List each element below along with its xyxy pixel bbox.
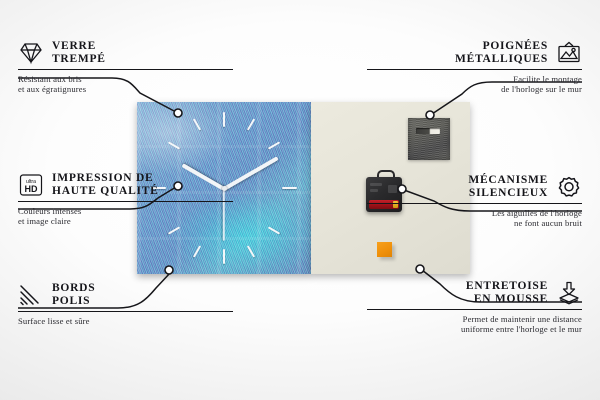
- clock-tick: [282, 187, 297, 189]
- clock-tick: [247, 245, 255, 257]
- callout-subtitle: Les aiguilles de l'horlogene font aucun …: [367, 208, 582, 229]
- callout-header: VERRETREMPÉ: [18, 40, 233, 66]
- callout-entretoise-en-mousse[interactable]: ENTRETOISEEN MOUSSE Permet de maintenir …: [367, 280, 582, 335]
- callout-divider: [367, 309, 582, 310]
- clock-tick: [268, 141, 280, 149]
- callout-header: POIGNÉESMÉTALLIQUES: [367, 40, 582, 66]
- clock-tick: [268, 226, 280, 234]
- callout-impression-haute-qualite[interactable]: ultra HD IMPRESSION DEHAUTE QUALITÉ Coul…: [18, 172, 233, 227]
- callout-divider: [18, 69, 233, 70]
- callout-divider: [367, 69, 582, 70]
- clock-tick: [193, 245, 201, 257]
- callout-header: MÉCANISMESILENCIEUX: [367, 174, 582, 200]
- ultra-hd-badge-icon: ultra HD: [18, 173, 44, 197]
- gear-icon: [556, 175, 582, 199]
- callout-header: ultra HD IMPRESSION DEHAUTE QUALITÉ: [18, 172, 233, 198]
- infographic-canvas: VERRETREMPÉ Résistant aux briset aux égr…: [0, 0, 600, 400]
- foam-spacer: [377, 242, 392, 257]
- callout-bords-polis[interactable]: BORDSPOLIS Surface lisse et sûre: [18, 282, 233, 326]
- clock-tick: [223, 112, 225, 127]
- callout-subtitle: Surface lisse et sûre: [18, 316, 233, 326]
- callout-title: ENTRETOISEEN MOUSSE: [466, 280, 548, 306]
- callout-title: IMPRESSION DEHAUTE QUALITÉ: [52, 172, 159, 198]
- diamond-icon: [18, 41, 44, 65]
- callout-subtitle: Facilite le montagede l'horloge sur le m…: [367, 74, 582, 95]
- callout-poignees-metalliques[interactable]: POIGNÉESMÉTALLIQUES Facilite le montaged…: [367, 40, 582, 95]
- clock-tick: [223, 249, 225, 264]
- callout-subtitle: Permet de maintenir une distanceuniforme…: [367, 314, 582, 335]
- metal-hanger: [408, 118, 450, 160]
- callout-subtitle: Couleurs intenseset image claire: [18, 206, 233, 227]
- callout-verre-trempe[interactable]: VERRETREMPÉ Résistant aux briset aux égr…: [18, 40, 233, 95]
- callout-title: BORDSPOLIS: [52, 282, 95, 308]
- callout-mecanisme-silencieux[interactable]: MÉCANISMESILENCIEUX Les aiguilles de l'h…: [367, 174, 582, 229]
- clock-tick: [247, 118, 255, 130]
- clock-tick: [168, 226, 180, 234]
- hanger-slot: [416, 128, 440, 134]
- polished-edges-icon: [18, 283, 44, 307]
- callout-divider: [18, 201, 233, 202]
- callout-title: POIGNÉESMÉTALLIQUES: [455, 40, 548, 66]
- clock-tick: [193, 118, 201, 130]
- callout-subtitle: Résistant aux briset aux égratignures: [18, 74, 233, 95]
- callout-title: VERRETREMPÉ: [52, 40, 106, 66]
- svg-text:HD: HD: [25, 184, 38, 194]
- callout-divider: [18, 311, 233, 312]
- callout-title: MÉCANISMESILENCIEUX: [468, 174, 548, 200]
- callout-header: ENTRETOISEEN MOUSSE: [367, 280, 582, 306]
- callout-header: BORDSPOLIS: [18, 282, 233, 308]
- foam-spacer-arrow-icon: [556, 281, 582, 305]
- callout-divider: [367, 203, 582, 204]
- framed-picture-hanger-icon: [556, 41, 582, 65]
- clock-tick: [168, 141, 180, 149]
